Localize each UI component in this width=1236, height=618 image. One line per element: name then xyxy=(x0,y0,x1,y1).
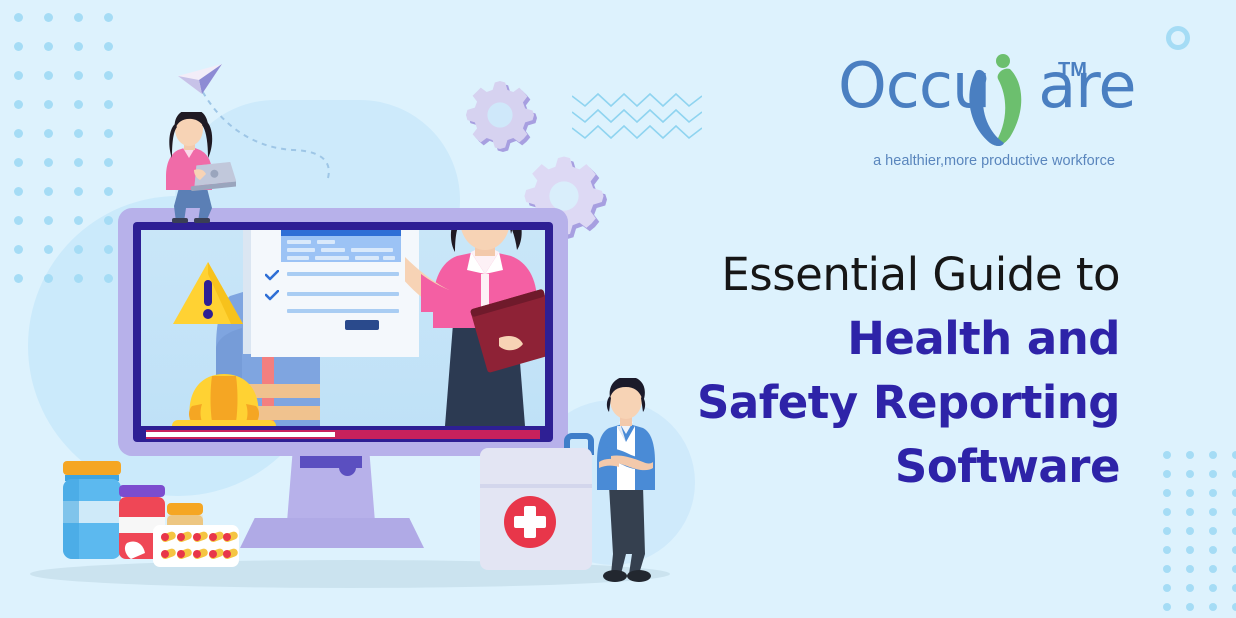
pill-blister-pack xyxy=(153,525,239,567)
document-table-header xyxy=(281,230,401,236)
banner-illustration: SAFETY REGULATIONS xyxy=(0,0,1236,618)
document-table xyxy=(281,230,401,262)
checklist-text-line xyxy=(287,272,399,276)
hard-hat-icon xyxy=(168,370,280,426)
headline-line-2: Health and xyxy=(620,307,1120,371)
monitor-screen: SAFETY REGULATIONS xyxy=(141,230,545,426)
dot-grid-top-left xyxy=(14,13,113,283)
logo-word-part-2: are xyxy=(1038,49,1135,122)
dot-grid-bottom-right xyxy=(1163,451,1236,618)
occucare-logo[interactable]: Occuare TM a healthier,more productive w… xyxy=(838,55,1138,185)
logo-tagline: a healthier,more productive workforce xyxy=(854,153,1134,169)
document-submit-button[interactable] xyxy=(345,320,379,330)
checkbox-checked-icon xyxy=(265,270,279,281)
zigzag-lines-decoration xyxy=(572,88,702,140)
person-woman-with-laptop xyxy=(150,112,236,228)
headline-line-3: Safety Reporting xyxy=(620,371,1120,435)
checklist-text-line xyxy=(287,309,399,313)
trademark-symbol: TM xyxy=(1058,59,1087,82)
checkbox-checked-icon xyxy=(265,290,279,301)
circle-ring-icon xyxy=(1166,26,1190,50)
logo-person-swoosh-icon xyxy=(954,49,1032,149)
headline-line-1: Essential Guide to xyxy=(620,243,1120,307)
paper-plane-icon xyxy=(176,62,224,96)
gear-icon-large xyxy=(463,78,537,152)
monitor-base xyxy=(240,518,424,548)
safety-regulations-document: SAFETY REGULATIONS xyxy=(251,230,419,357)
medicine-bottle-blue xyxy=(63,461,121,559)
first-aid-kit xyxy=(480,448,592,570)
video-progress-bar[interactable] xyxy=(146,430,540,439)
headline-line-4: Software xyxy=(620,435,1120,499)
medicine-bottles-group xyxy=(57,443,257,573)
page-headline: Essential Guide to Health and Safety Rep… xyxy=(620,243,1120,499)
warning-triangle-icon xyxy=(171,260,245,328)
monitor-power-dot xyxy=(339,459,356,476)
progress-bar-fill xyxy=(146,432,335,437)
checklist-text-line xyxy=(287,292,399,296)
person-woman-presenter xyxy=(405,230,545,426)
